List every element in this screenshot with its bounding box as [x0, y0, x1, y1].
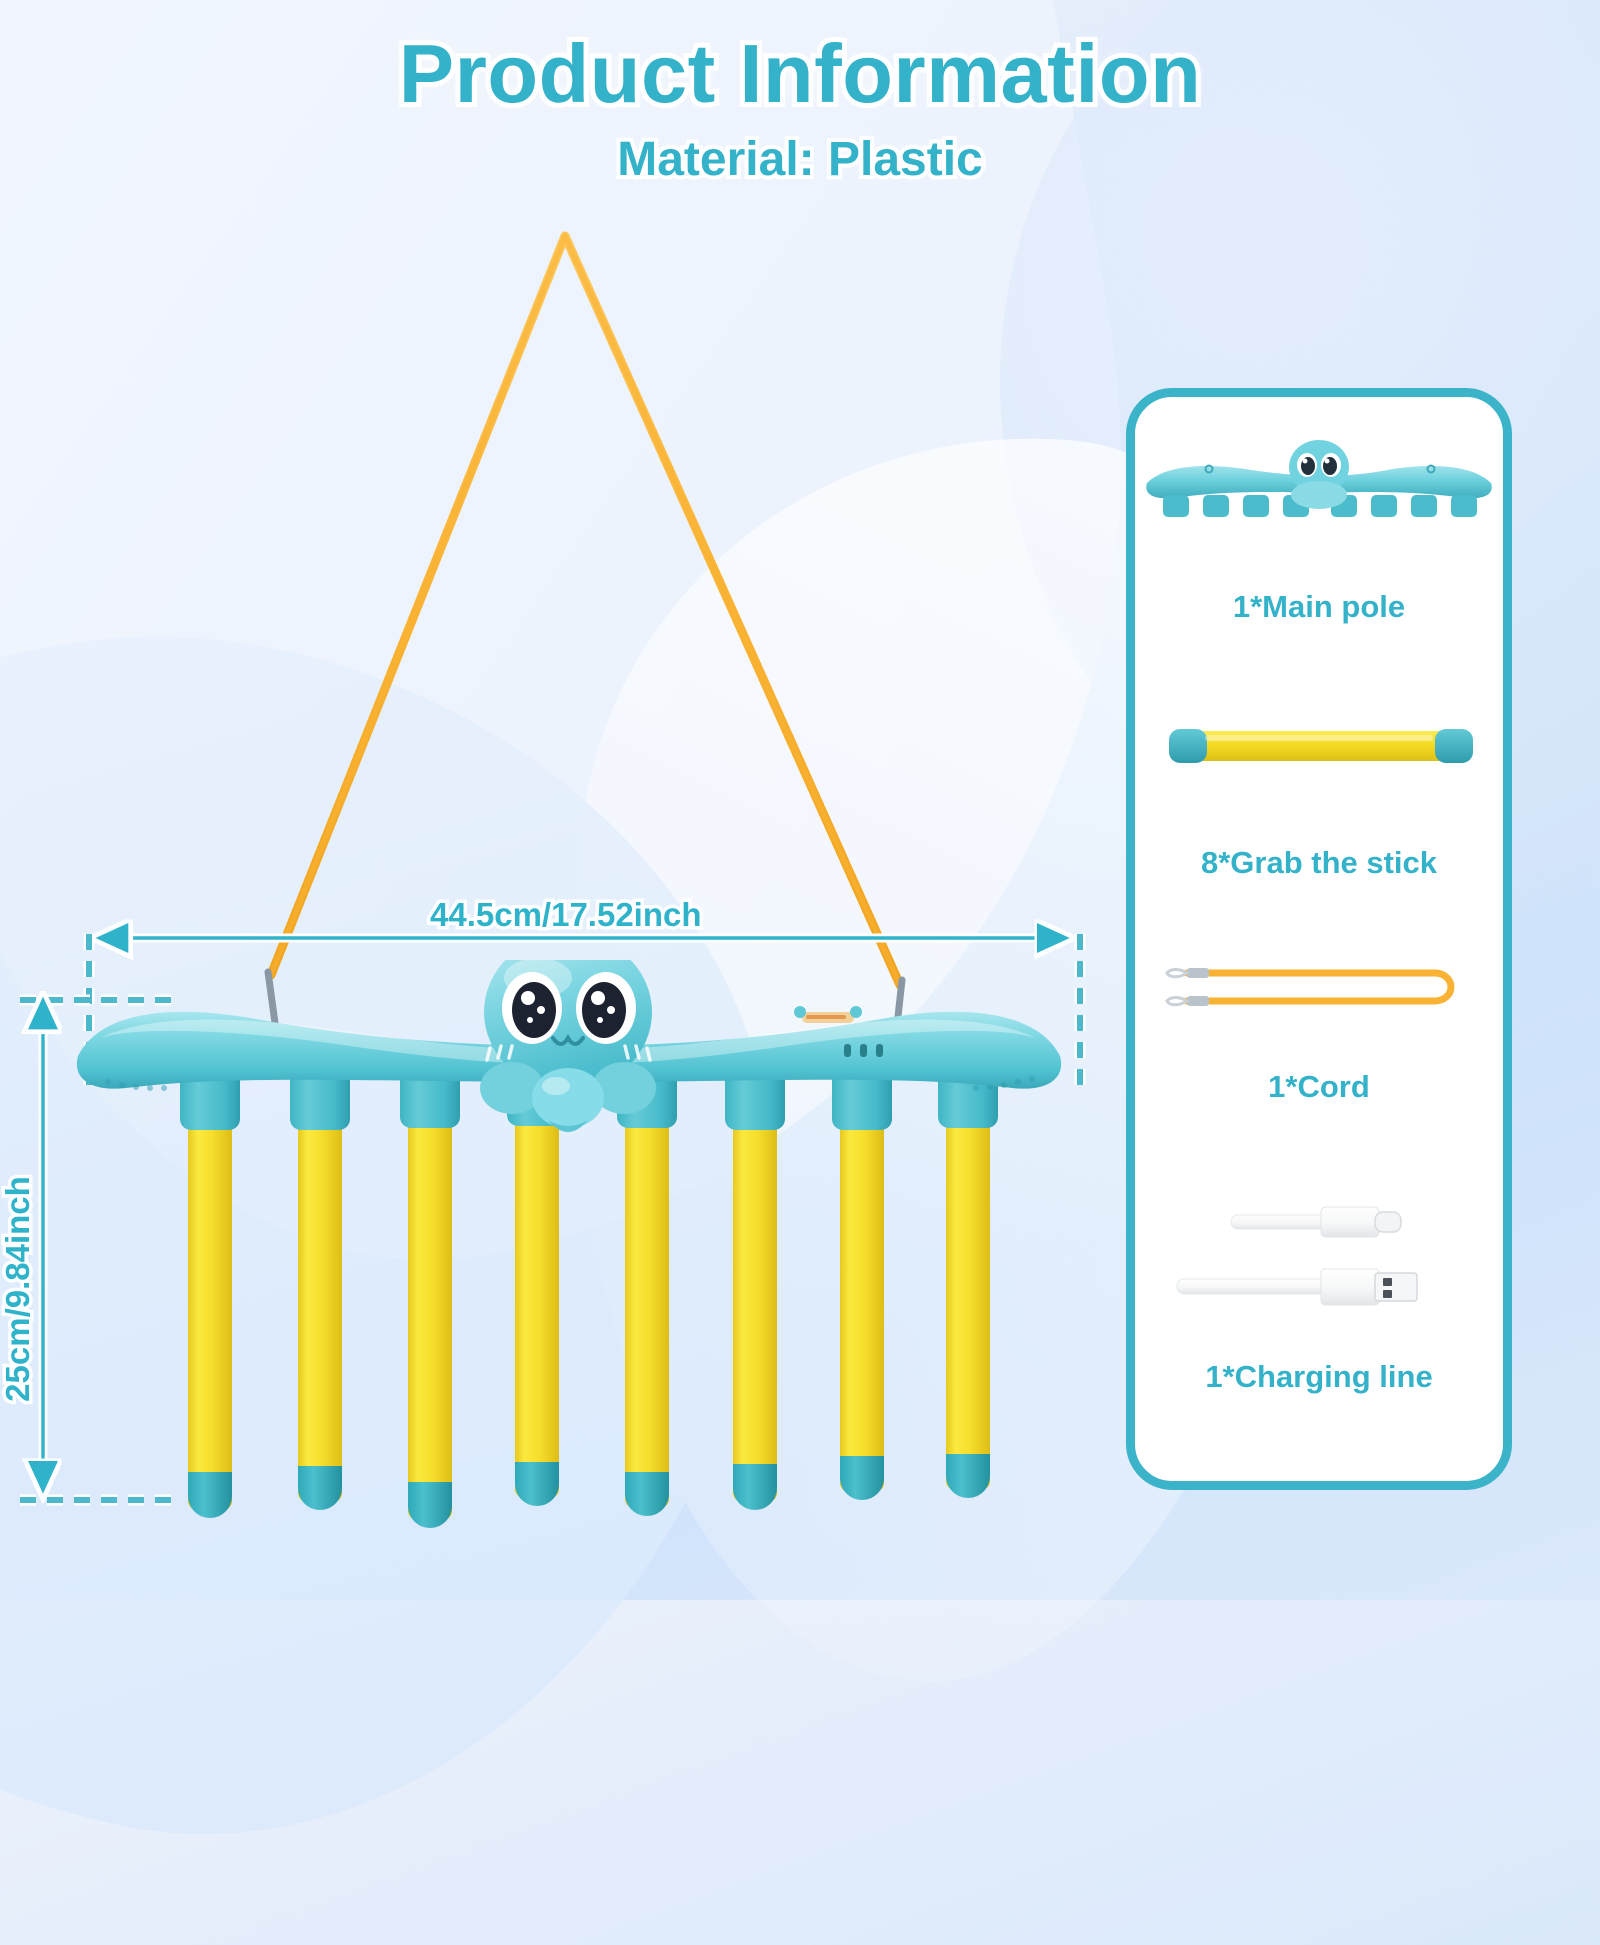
grab-stick: [515, 1106, 559, 1506]
height-dimension-label: 25cm/9.84inch: [0, 1176, 37, 1402]
octopus-head: [480, 960, 656, 1132]
usb-c-connector: [1231, 1207, 1401, 1237]
vent-marks: [844, 1044, 883, 1057]
card-label-cord: 1*Cord: [1135, 1069, 1503, 1105]
grab-stick: [733, 1110, 777, 1510]
poster-canvas: Product Information Material: Plastic: [0, 0, 1600, 1600]
usb-a-connector: [1177, 1269, 1417, 1305]
card-label-charging-line: 1*Charging line: [1135, 1359, 1503, 1395]
indicator-strip: [794, 1006, 862, 1023]
grab-stick: [188, 1110, 232, 1518]
width-dimension-label: 44.5cm/17.52inch: [430, 896, 702, 934]
main-pole-thumbnail: [1135, 439, 1503, 535]
card-label-grab-stick: 8*Grab the stick: [1135, 845, 1503, 881]
grab-sticks-group: [188, 1106, 990, 1528]
grab-stick: [840, 1110, 884, 1500]
grab-stick-thumbnail: [1135, 697, 1503, 793]
cord-thumbnail: [1135, 937, 1503, 1033]
charging-cable-thumbnail: [1135, 1177, 1503, 1337]
octopus-toy-product: [60, 960, 1080, 1540]
grab-stick: [946, 1108, 990, 1498]
grab-stick: [408, 1108, 452, 1528]
grab-stick: [298, 1110, 342, 1510]
thumbnail-octopus-head: [1289, 440, 1349, 509]
grab-stick: [625, 1108, 669, 1516]
card-label-main-pole: 1*Main pole: [1135, 589, 1503, 625]
package-contents-card: 1*Main pole 8*Grab the stick: [1126, 388, 1512, 1490]
